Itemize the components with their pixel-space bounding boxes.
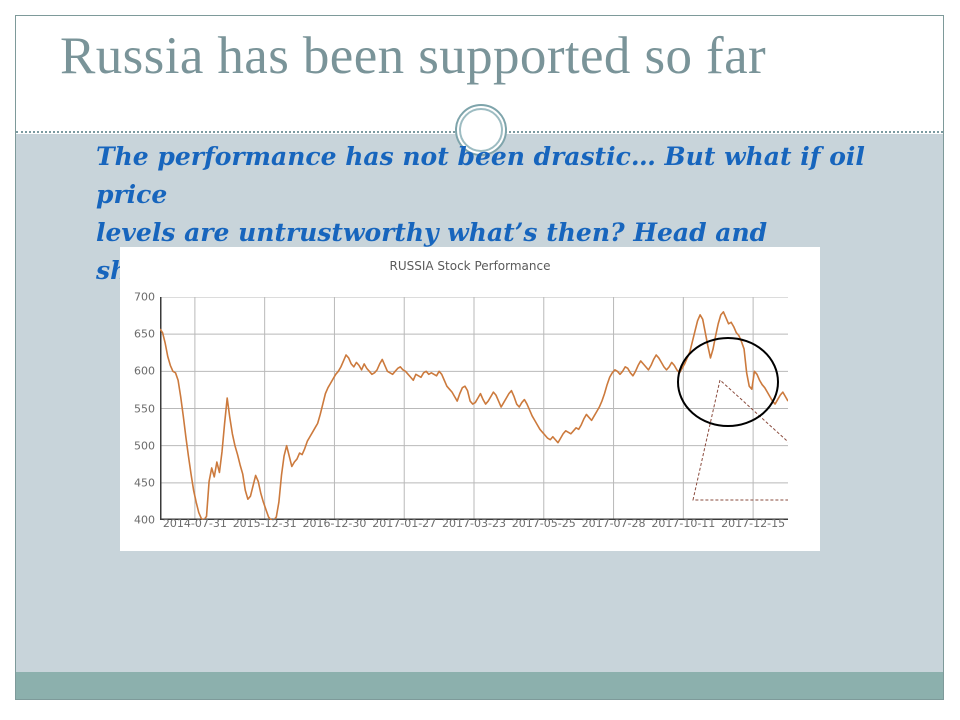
- chart-x-tick-label: 2017-03-23: [442, 517, 506, 530]
- chart-x-tick-label: 2017-05-25: [512, 517, 576, 530]
- subtitle-line-1: The performance has not been drastic… Bu…: [96, 138, 886, 214]
- chart-panel: RUSSIA Stock Performance 400450500550600…: [120, 247, 820, 551]
- chart-x-tick-label: 2017-07-28: [582, 517, 646, 530]
- chart-y-tick-label: 550: [134, 402, 155, 415]
- chart-svg: [160, 297, 788, 520]
- chart-x-tick-label: 2017-01-27: [372, 517, 436, 530]
- head-and-shoulders-circle: [678, 338, 778, 426]
- slide-footer-band: [16, 672, 943, 699]
- chart-y-tick-label: 450: [134, 476, 155, 489]
- chart-y-tick-label: 650: [134, 328, 155, 341]
- chart-title: RUSSIA Stock Performance: [120, 259, 820, 273]
- page-title: Russia has been supported so far: [60, 26, 920, 86]
- chart-y-tick-label: 600: [134, 365, 155, 378]
- chart-plot-area: 400450500550600650700: [160, 297, 788, 520]
- chart-x-tick-label: 2016-12-30: [302, 517, 366, 530]
- chart-x-tick-label: 2017-10-11: [651, 517, 715, 530]
- chart-x-axis-labels: 2014-07-312015-12-312016-12-302017-01-27…: [128, 517, 828, 535]
- chart-x-tick-label: 2015-12-31: [233, 517, 297, 530]
- chart-y-tick-label: 700: [134, 291, 155, 304]
- slide: Russia has been supported so far The per…: [0, 0, 960, 720]
- chart-x-tick-label: 2017-12-15: [721, 517, 785, 530]
- chart-y-tick-label: 500: [134, 439, 155, 452]
- chart-x-tick-label: 2014-07-31: [163, 517, 227, 530]
